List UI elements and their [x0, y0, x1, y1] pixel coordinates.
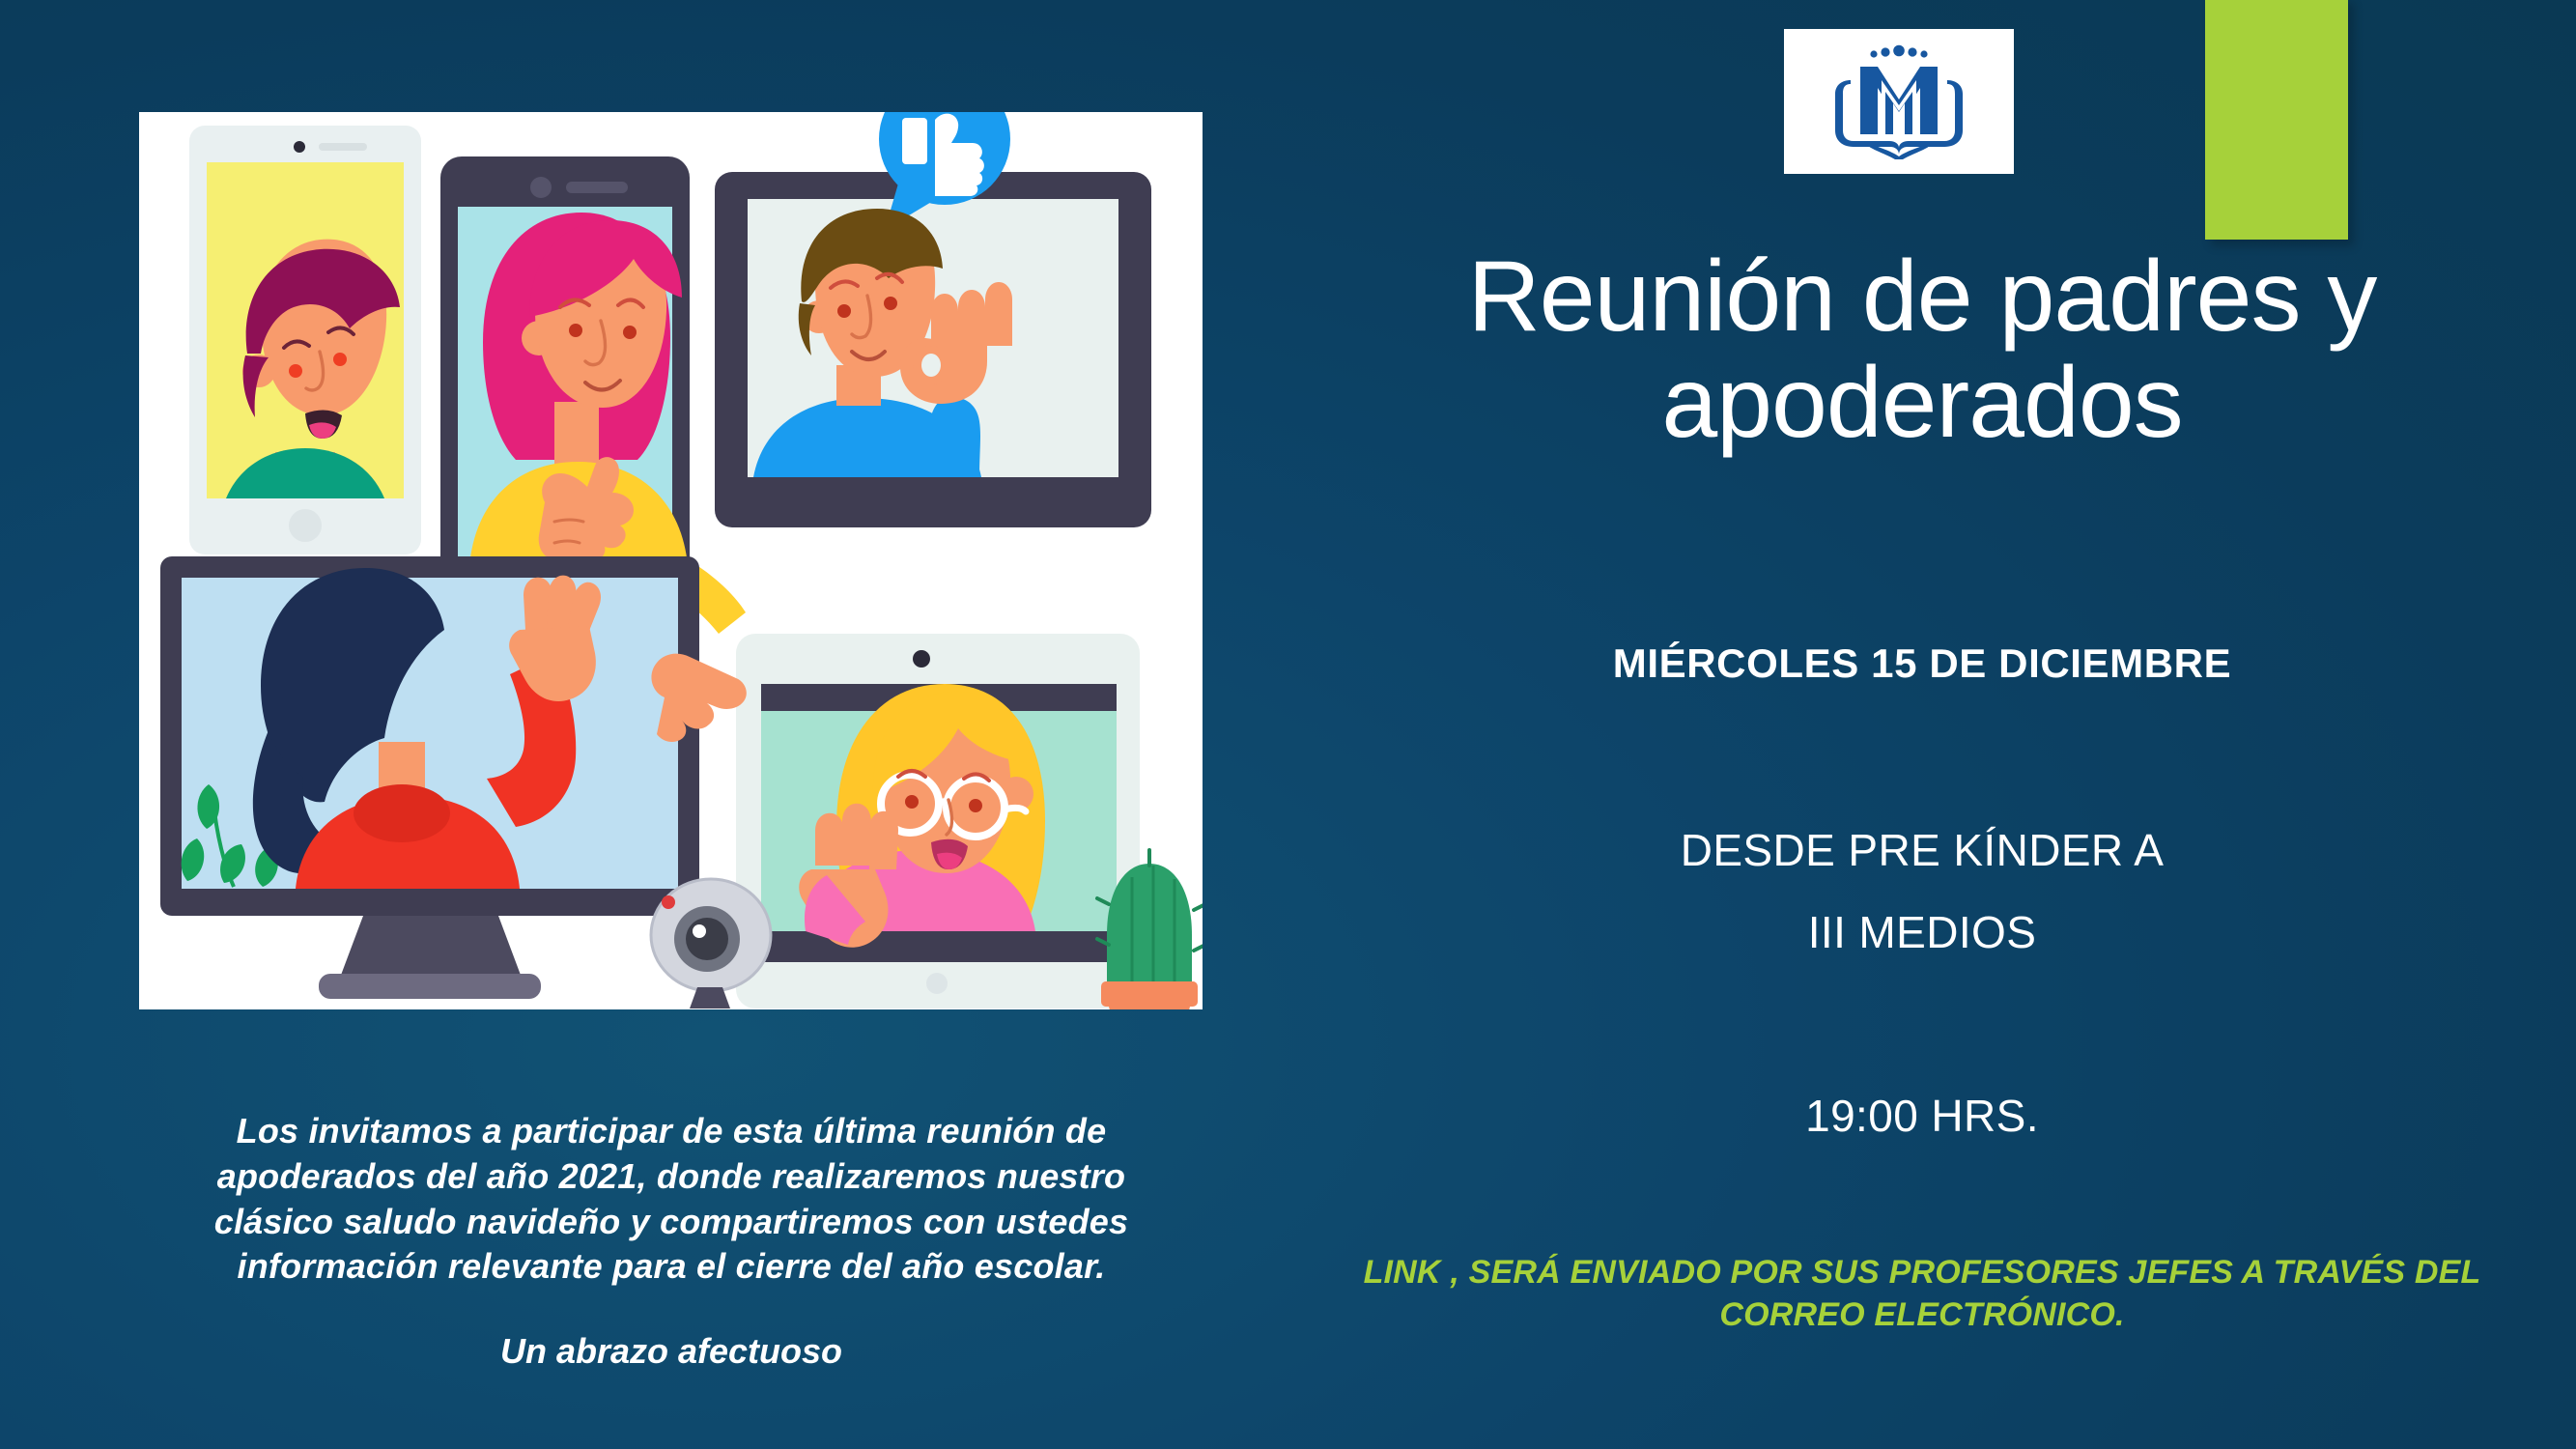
- page-title: Reunión de padres y apoderados: [1299, 243, 2545, 456]
- meeting-time: 19:00 HRS.: [1299, 1090, 2545, 1142]
- invitation-closing: Un abrazo afectuoso: [116, 1331, 1227, 1372]
- headline-line-2: apoderados: [1299, 350, 2545, 456]
- link-note-line-1: LINK , SERÁ ENVIADO POR SUS PROFESORES J…: [1299, 1251, 2545, 1293]
- invitation-paragraph: Los invitamos a participar de esta últim…: [116, 1109, 1227, 1290]
- phone-device: [189, 126, 421, 554]
- invitation-line-3: clásico saludo navideño y compartiremos …: [116, 1200, 1227, 1245]
- laptop-device: [715, 112, 1151, 527]
- school-crest-logo-icon: [1814, 42, 1984, 161]
- link-note-line-2: CORREO ELECTRÓNICO.: [1299, 1293, 2545, 1336]
- invitation-line-1: Los invitamos a participar de esta últim…: [116, 1109, 1227, 1154]
- link-delivery-note: LINK , SERÁ ENVIADO POR SUS PROFESORES J…: [1299, 1251, 2545, 1336]
- video-call-illustration: [139, 112, 1203, 1009]
- slide-canvas: Reunión de padres y apoderados MIÉRCOLES…: [0, 0, 2576, 1449]
- grades-range-line-2: III MEDIOS: [1299, 906, 2545, 958]
- green-accent-bar: [2205, 0, 2348, 240]
- invitation-line-4: información relevante para el cierre del…: [116, 1244, 1227, 1290]
- headline-line-1: Reunión de padres y: [1299, 243, 2545, 350]
- school-logo-box: [1784, 29, 2014, 174]
- meeting-date: MIÉRCOLES 15 DE DICIEMBRE: [1299, 640, 2545, 687]
- grades-range-line-1: DESDE PRE KÍNDER A: [1299, 824, 2545, 876]
- invitation-line-2: apoderados del año 2021, donde realizare…: [116, 1154, 1227, 1200]
